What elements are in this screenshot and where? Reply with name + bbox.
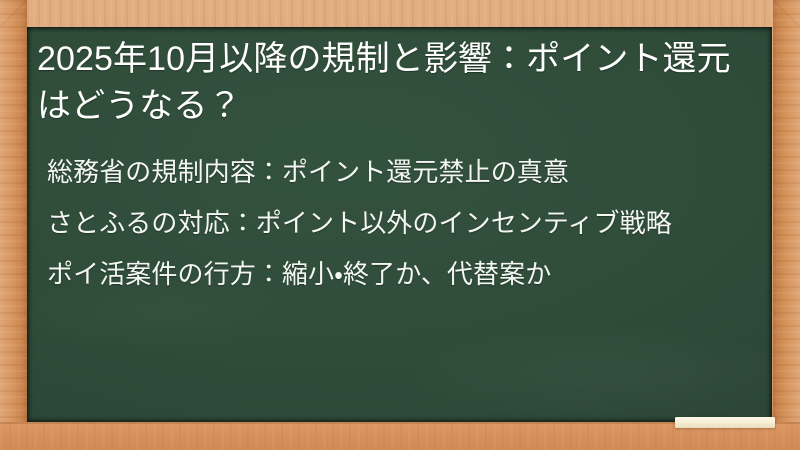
- blackboard-surface: 2025年10月以降の規制と影響：ポイント還元はどうなる？ 総務省の規制内容：ポ…: [27, 27, 772, 422]
- topic-list: 総務省の規制内容：ポイント還元禁止の真意 さとふるの対応：ポイント以外のインセン…: [37, 153, 752, 294]
- blackboard-content: 2025年10月以降の規制と影響：ポイント還元はどうなる？ 総務省の規制内容：ポ…: [27, 27, 772, 422]
- wooden-frame-right-rail: [773, 0, 800, 450]
- list-item: 総務省の規制内容：ポイント還元禁止の真意: [37, 153, 752, 192]
- blackboard-slide: 2025年10月以降の規制と影響：ポイント還元はどうなる？ 総務省の規制内容：ポ…: [0, 0, 800, 450]
- chalk-stick-icon: [675, 417, 775, 428]
- list-item: ポイ活案件の行方：縮小・終了か、代替案か: [37, 255, 752, 294]
- list-item: さとふるの対応：ポイント以外のインセンティブ戦略: [37, 204, 752, 243]
- page-title: 2025年10月以降の規制と影響：ポイント還元はどうなる？: [37, 36, 737, 130]
- wooden-frame-left-rail: [0, 0, 27, 450]
